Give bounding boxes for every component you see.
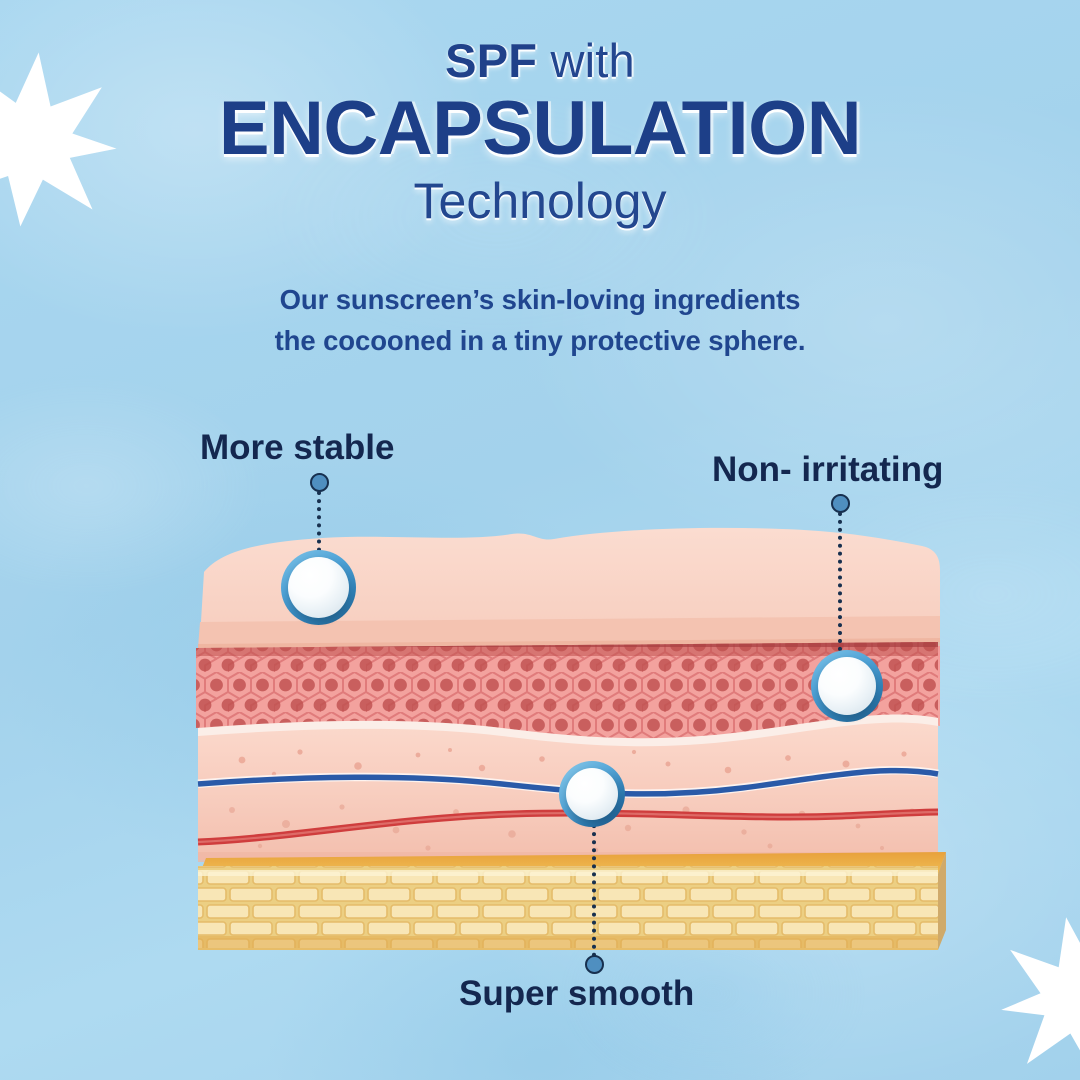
infographic-canvas: SPF with ENCAPSULATION Technology Our su…	[0, 0, 1080, 1080]
headline-group: SPF with ENCAPSULATION Technology	[0, 36, 1080, 229]
callout-label-non-irritating: Non- irritating	[712, 450, 943, 490]
subtitle-line-1: Our sunscreen’s skin-loving ingredients	[0, 280, 1080, 321]
headline-line-2: ENCAPSULATION	[0, 88, 1080, 170]
layer-subcutaneous-fat	[198, 852, 946, 950]
capsule-sphere-epidermis	[288, 557, 349, 618]
connector-dot-non-irritating	[831, 494, 850, 513]
subtitle-group: Our sunscreen’s skin-loving ingredients …	[0, 280, 1080, 361]
connector-dot-more-stable	[310, 473, 329, 492]
headline-with: with	[537, 34, 635, 87]
callout-label-more-stable: More stable	[200, 428, 395, 468]
callout-label-super-smooth: Super smooth	[459, 974, 694, 1014]
connector-dot-super-smooth	[585, 955, 604, 974]
headline-line-1: SPF with	[0, 36, 1080, 86]
connector-line-non-irritating	[838, 512, 842, 667]
headline-line-3: Technology	[0, 174, 1080, 229]
capsule-sphere-cellular	[818, 657, 876, 715]
headline-spf: SPF	[445, 34, 537, 87]
capsule-sphere-dermis	[566, 768, 618, 820]
subtitle-line-2: the cocooned in a tiny protective sphere…	[0, 321, 1080, 362]
